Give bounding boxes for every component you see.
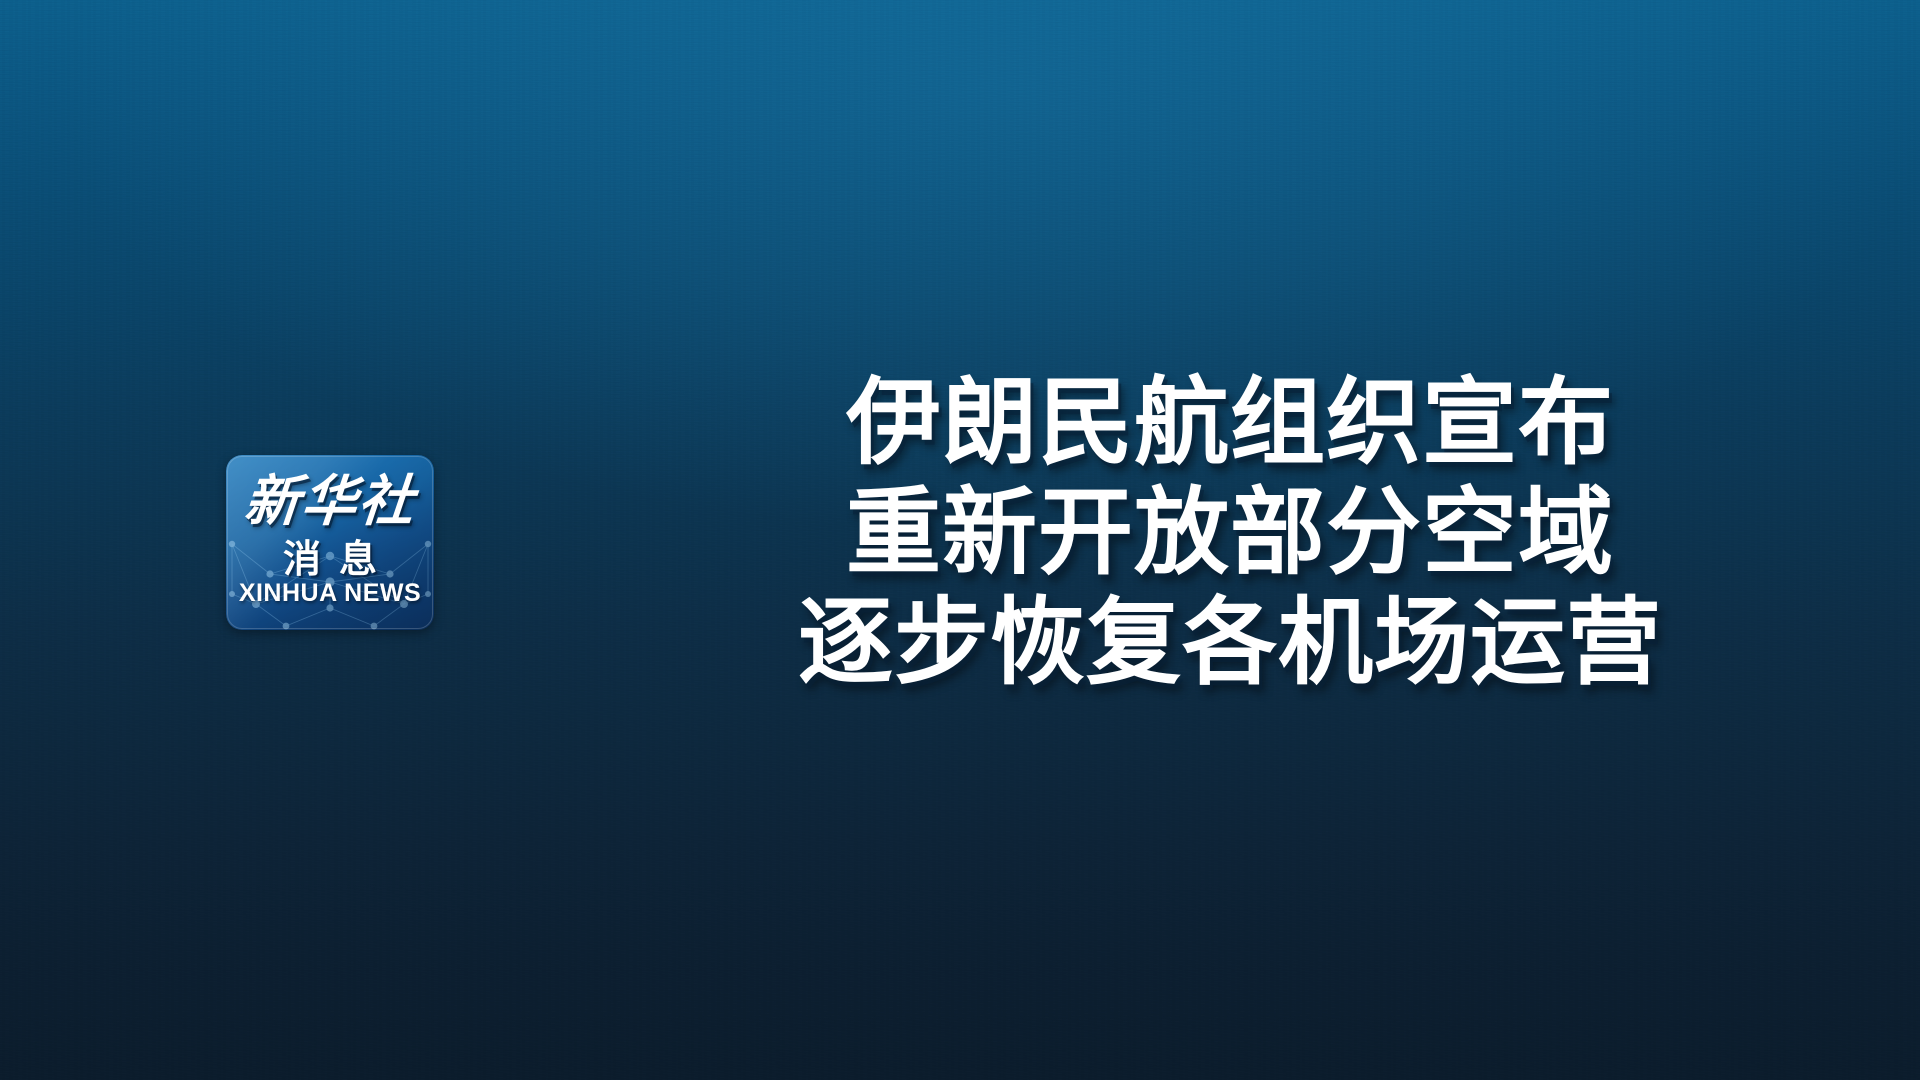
headline-block: 伊朗民航组织宣布 重新开放部分空域 逐步恢复各机场运营 — [700, 368, 1760, 698]
headline-line-2: 重新开放部分空域 — [700, 478, 1760, 588]
logo-english-title: XINHUA NEWS — [226, 579, 434, 608]
xinhua-news-logo: 新华社 消息 XINHUA NEWS — [226, 455, 434, 630]
news-card: 新华社 消息 XINHUA NEWS 伊朗民航组织宣布 重新开放部分空域 逐步恢… — [0, 0, 1920, 1080]
logo-chinese-title: 新华社 — [226, 466, 434, 538]
headline-line-3: 逐步恢复各机场运营 — [700, 588, 1760, 698]
logo-chinese-subtitle: 消息 — [226, 537, 434, 583]
headline-line-1: 伊朗民航组织宣布 — [700, 368, 1760, 478]
